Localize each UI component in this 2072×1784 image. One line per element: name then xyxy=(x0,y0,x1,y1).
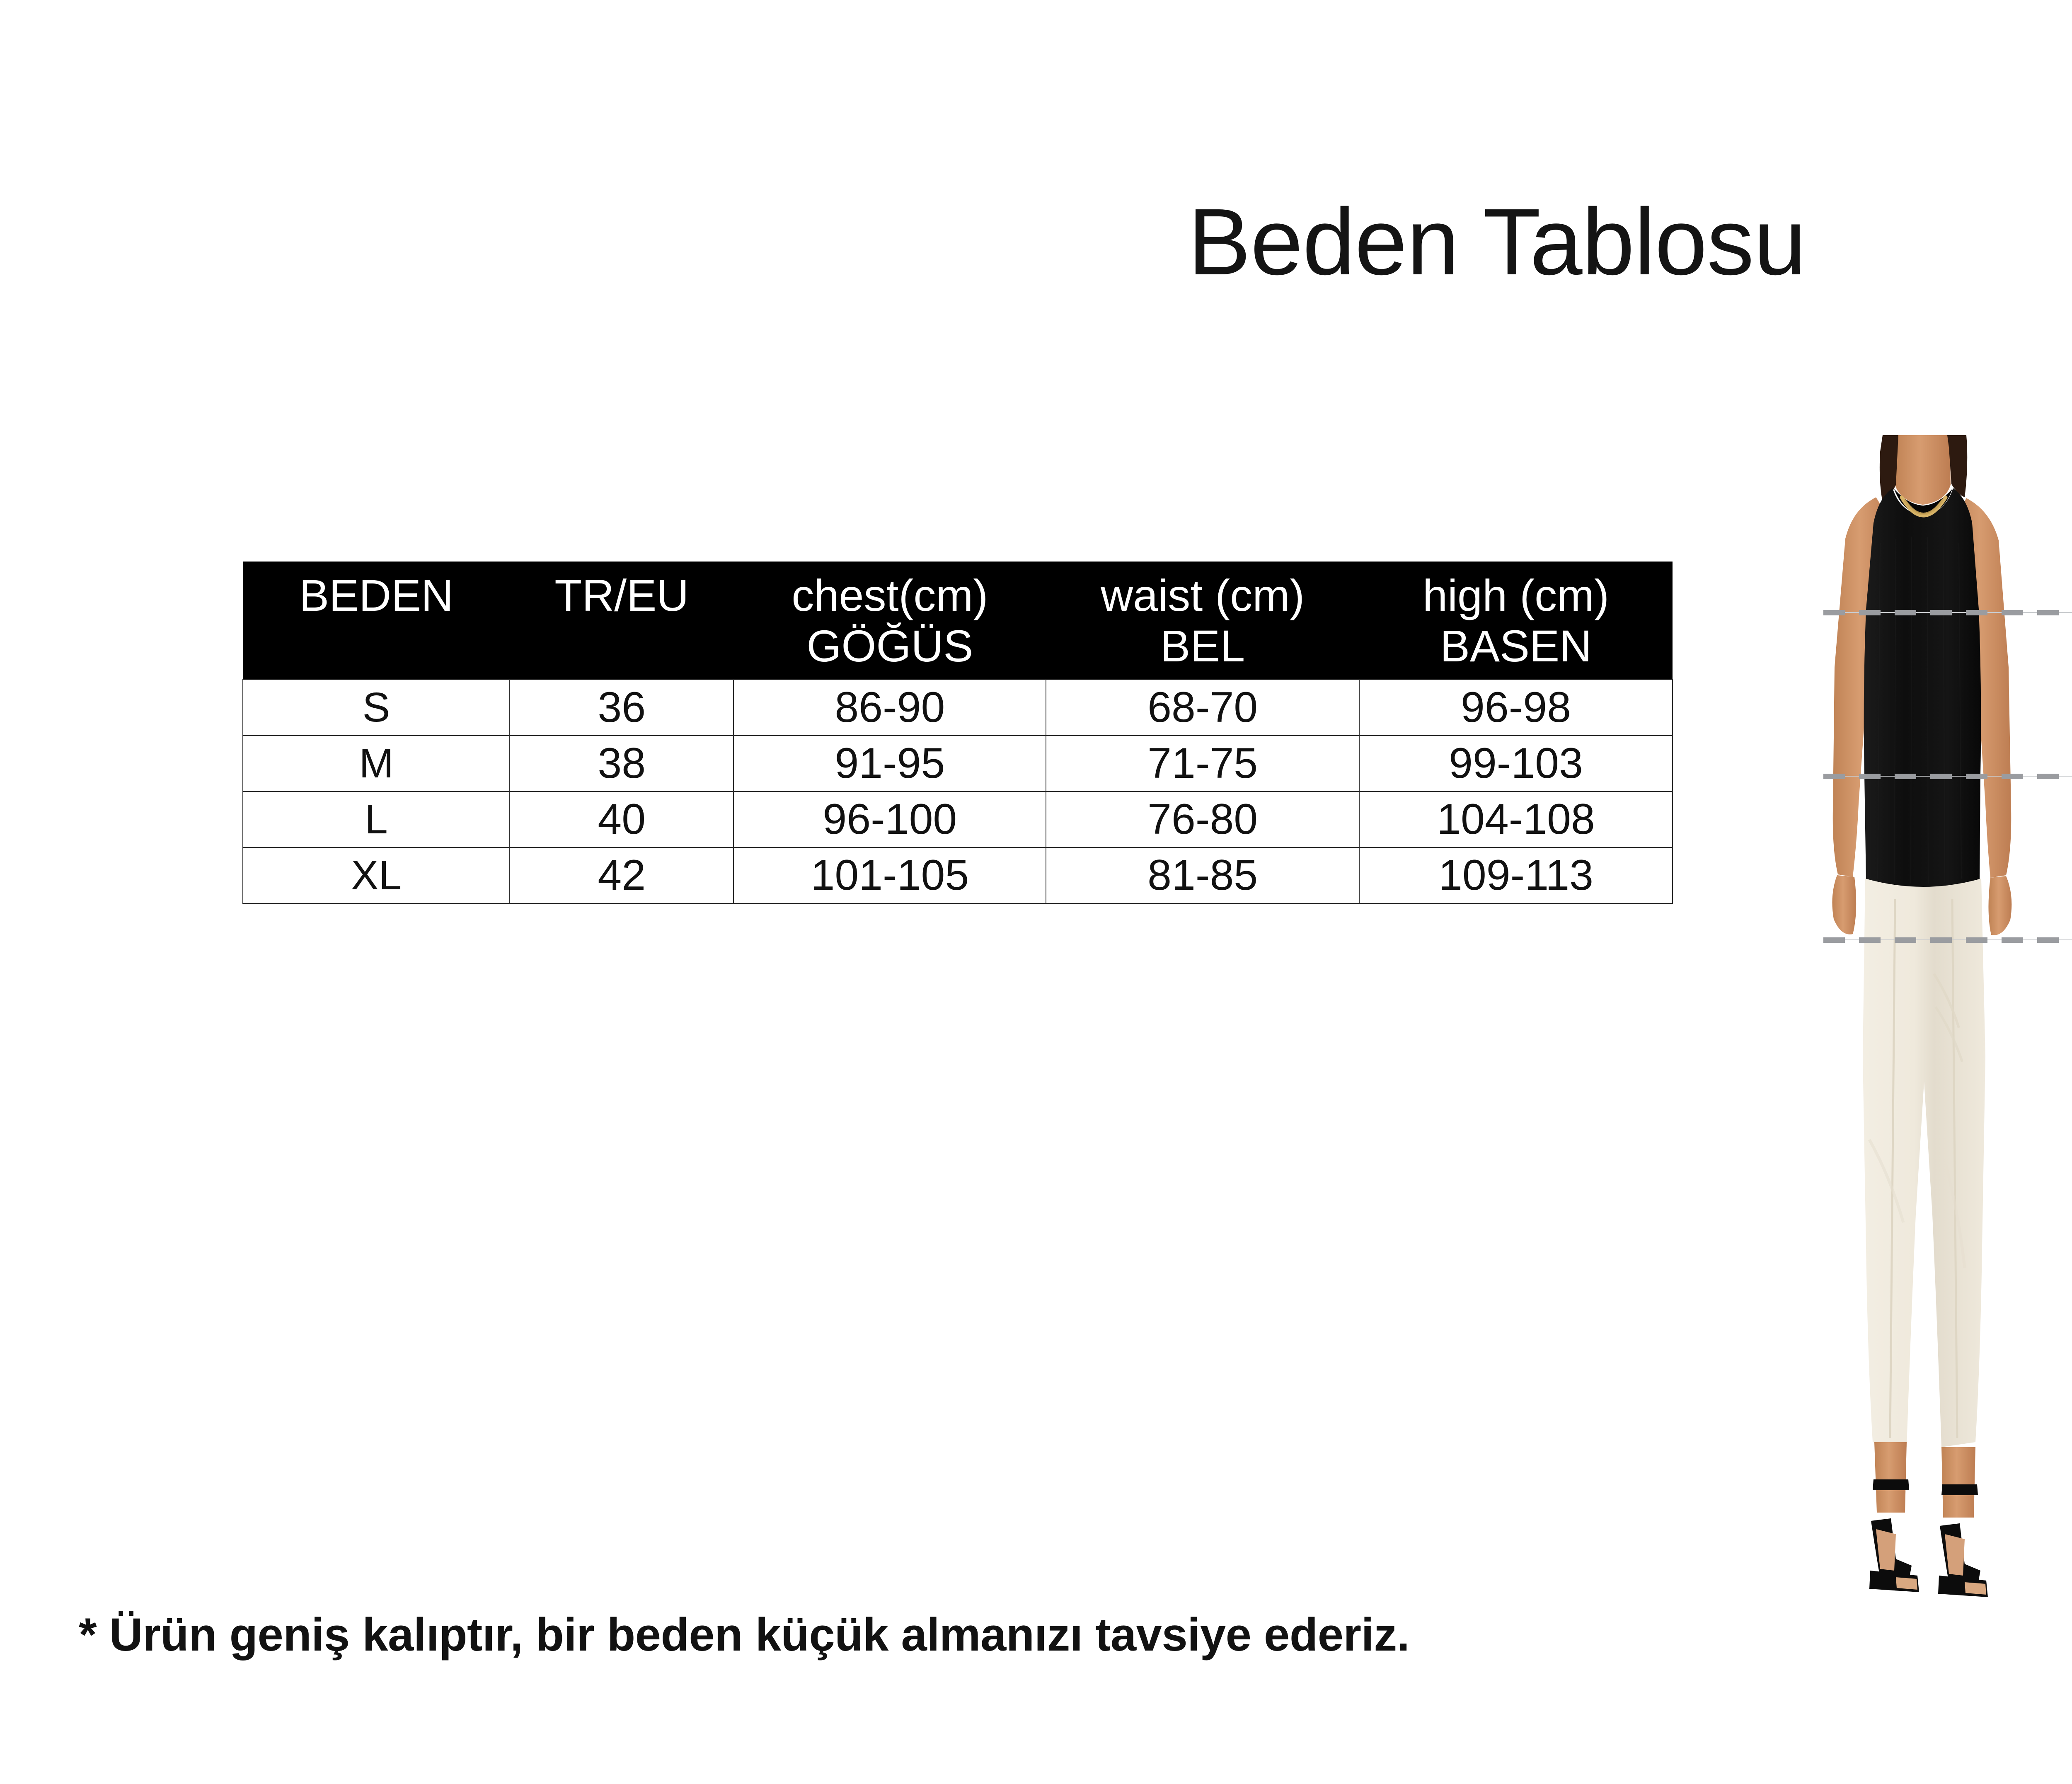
cell-treu: 38 xyxy=(510,736,734,792)
page-title: Beden Tablosu xyxy=(0,195,2072,289)
hip-guide-line xyxy=(1823,934,2072,944)
subheader-treu xyxy=(510,622,734,680)
column-header-treu: TR/EU xyxy=(510,562,734,622)
table-subheader-row: GÖĞÜS BEL BASEN xyxy=(243,622,1673,680)
cell-treu: 36 xyxy=(510,680,734,736)
cell-waist: 76-80 xyxy=(1046,792,1359,847)
column-header-chest: chest(cm) xyxy=(733,562,1046,622)
guide-dashes xyxy=(1823,774,2072,779)
cell-beden: S xyxy=(243,680,510,736)
cell-beden: L xyxy=(243,792,510,847)
cell-chest: 101-105 xyxy=(733,847,1046,903)
subheader-bel: BEL xyxy=(1046,622,1359,680)
subheader-beden xyxy=(243,622,510,680)
cell-waist: 71-75 xyxy=(1046,736,1359,792)
size-chart-table: BEDEN TR/EU chest(cm) waist (cm) high (c… xyxy=(242,562,1673,904)
subheader-gogus: GÖĞÜS xyxy=(733,622,1046,680)
size-table-element: BEDEN TR/EU chest(cm) waist (cm) high (c… xyxy=(242,562,1673,904)
cell-beden: M xyxy=(243,736,510,792)
subheader-basen: BASEN xyxy=(1359,622,1673,680)
table-row: L 40 96-100 76-80 104-108 xyxy=(243,792,1673,847)
cell-high: 109-113 xyxy=(1359,847,1673,903)
waist-guide-line xyxy=(1823,770,2072,781)
cell-chest: 86-90 xyxy=(733,680,1046,736)
cell-high: 99-103 xyxy=(1359,736,1673,792)
guide-dashes xyxy=(1823,610,2072,615)
cell-waist: 68-70 xyxy=(1046,680,1359,736)
column-header-beden: BEDEN xyxy=(243,562,510,622)
column-header-high: high (cm) xyxy=(1359,562,1673,622)
guide-dashes xyxy=(1823,937,2072,943)
table-row: XL 42 101-105 81-85 109-113 xyxy=(243,847,1673,903)
cell-beden: XL xyxy=(243,847,510,903)
column-header-waist: waist (cm) xyxy=(1046,562,1359,622)
cell-chest: 96-100 xyxy=(733,792,1046,847)
chest-guide-line xyxy=(1823,606,2072,617)
cell-high: 104-108 xyxy=(1359,792,1673,847)
cell-waist: 81-85 xyxy=(1046,847,1359,903)
cell-treu: 42 xyxy=(510,847,734,903)
table-row: M 38 91-95 71-75 99-103 xyxy=(243,736,1673,792)
fit-advice-note: * Ürün geniş kalıptır, bir beden küçük a… xyxy=(79,1608,1409,1661)
table-row: S 36 86-90 68-70 96-98 xyxy=(243,680,1673,736)
cell-chest: 91-95 xyxy=(733,736,1046,792)
cell-high: 96-98 xyxy=(1359,680,1673,736)
table-header-row: BEDEN TR/EU chest(cm) waist (cm) high (c… xyxy=(243,562,1673,622)
cell-treu: 40 xyxy=(510,792,734,847)
